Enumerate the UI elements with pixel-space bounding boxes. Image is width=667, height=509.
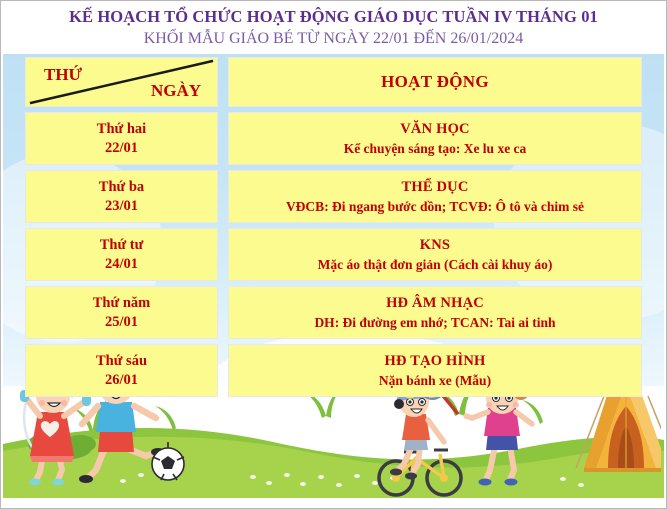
activity-title: KNS bbox=[420, 236, 450, 255]
bottom-white-strip bbox=[3, 498, 664, 506]
activity-cell: THỂ DỤC VĐCB: Đi ngang bước dồn; TCVĐ: Ô… bbox=[228, 170, 642, 223]
day-date: 24/01 bbox=[105, 255, 138, 274]
grass-hill-near bbox=[3, 411, 664, 506]
activity-title: HĐ TẠO HÌNH bbox=[384, 352, 485, 371]
day-name: Thứ sáu bbox=[96, 352, 147, 371]
day-cell: Thứ hai 22/01 bbox=[25, 112, 218, 165]
day-name: Thứ ba bbox=[99, 178, 144, 197]
day-cell: Thứ ba 23/01 bbox=[25, 170, 218, 223]
day-cell: Thứ năm 25/01 bbox=[25, 286, 218, 339]
day-name: Thứ năm bbox=[93, 294, 150, 313]
activity-title: HĐ ÂM NHẠC bbox=[386, 294, 484, 313]
activity-subtitle: VĐCB: Đi ngang bước dồn; TCVĐ: Ô tô và c… bbox=[286, 197, 584, 216]
activity-subtitle: Mặc áo thật đơn giản (Cách cài khuy áo) bbox=[318, 255, 553, 274]
activity-cell: KNS Mặc áo thật đơn giản (Cách cài khuy … bbox=[228, 228, 642, 281]
page-title-line2: KHỐI MẪU GIÁO BÉ TỪ NGÀY 22/01 ĐẾN 26/01… bbox=[25, 28, 642, 50]
table-row: Thứ hai 22/01 VĂN HỌC Kể chuyện sáng tạo… bbox=[25, 112, 642, 165]
header-cell-activity: HOẠT ĐỘNG bbox=[228, 57, 642, 107]
activity-cell: HĐ ÂM NHẠC DH: Đi đường em nhớ; TCAN: Ta… bbox=[228, 286, 642, 339]
day-cell: Thứ sáu 26/01 bbox=[25, 344, 218, 397]
header-label-date: NGÀY bbox=[151, 81, 201, 101]
day-date: 25/01 bbox=[105, 313, 138, 332]
weekly-plan-table: THỨ NGÀY HOẠT ĐỘNG Thứ hai 22/01 VĂN HỌC… bbox=[25, 57, 642, 402]
table-row: Thứ sáu 26/01 HĐ TẠO HÌNH Nặn bánh xe (M… bbox=[25, 344, 642, 397]
activity-cell: VĂN HỌC Kể chuyện sáng tạo: Xe lu xe ca bbox=[228, 112, 642, 165]
activity-subtitle: Nặn bánh xe (Mẫu) bbox=[379, 371, 491, 390]
activity-subtitle: Kể chuyện sáng tạo: Xe lu xe ca bbox=[344, 139, 527, 158]
day-name: Thứ tư bbox=[100, 236, 144, 255]
header-label-activity: HOẠT ĐỘNG bbox=[381, 72, 489, 92]
slide-canvas: KẾ HOẠCH TỔ CHỨC HOẠT ĐỘNG GIÁO DỤC TUẦN… bbox=[0, 0, 667, 509]
day-cell: Thứ tư 24/01 bbox=[25, 228, 218, 281]
table-row: Thứ tư 24/01 KNS Mặc áo thật đơn giản (C… bbox=[25, 228, 642, 281]
table-header-row: THỨ NGÀY HOẠT ĐỘNG bbox=[25, 57, 642, 107]
table-row: Thứ năm 25/01 HĐ ÂM NHẠC DH: Đi đường em… bbox=[25, 286, 642, 339]
day-date: 23/01 bbox=[105, 197, 138, 216]
header-cell-day-date: THỨ NGÀY bbox=[25, 57, 218, 107]
header-label-day: THỨ bbox=[44, 65, 82, 85]
day-name: Thứ hai bbox=[97, 120, 146, 139]
activity-title: VĂN HỌC bbox=[400, 120, 469, 139]
day-date: 26/01 bbox=[105, 371, 138, 390]
activity-subtitle: DH: Đi đường em nhớ; TCAN: Tai ai tinh bbox=[314, 313, 555, 332]
activity-cell: HĐ TẠO HÌNH Nặn bánh xe (Mẫu) bbox=[228, 344, 642, 397]
day-date: 22/01 bbox=[105, 139, 138, 158]
slide-title-block: KẾ HOẠCH TỔ CHỨC HOẠT ĐỘNG GIÁO DỤC TUẦN… bbox=[25, 2, 642, 54]
table-row: Thứ ba 23/01 THỂ DỤC VĐCB: Đi ngang bước… bbox=[25, 170, 642, 223]
page-title-line1: KẾ HOẠCH TỔ CHỨC HOẠT ĐỘNG GIÁO DỤC TUẦN… bbox=[25, 6, 642, 28]
activity-title: THỂ DỤC bbox=[401, 178, 468, 197]
